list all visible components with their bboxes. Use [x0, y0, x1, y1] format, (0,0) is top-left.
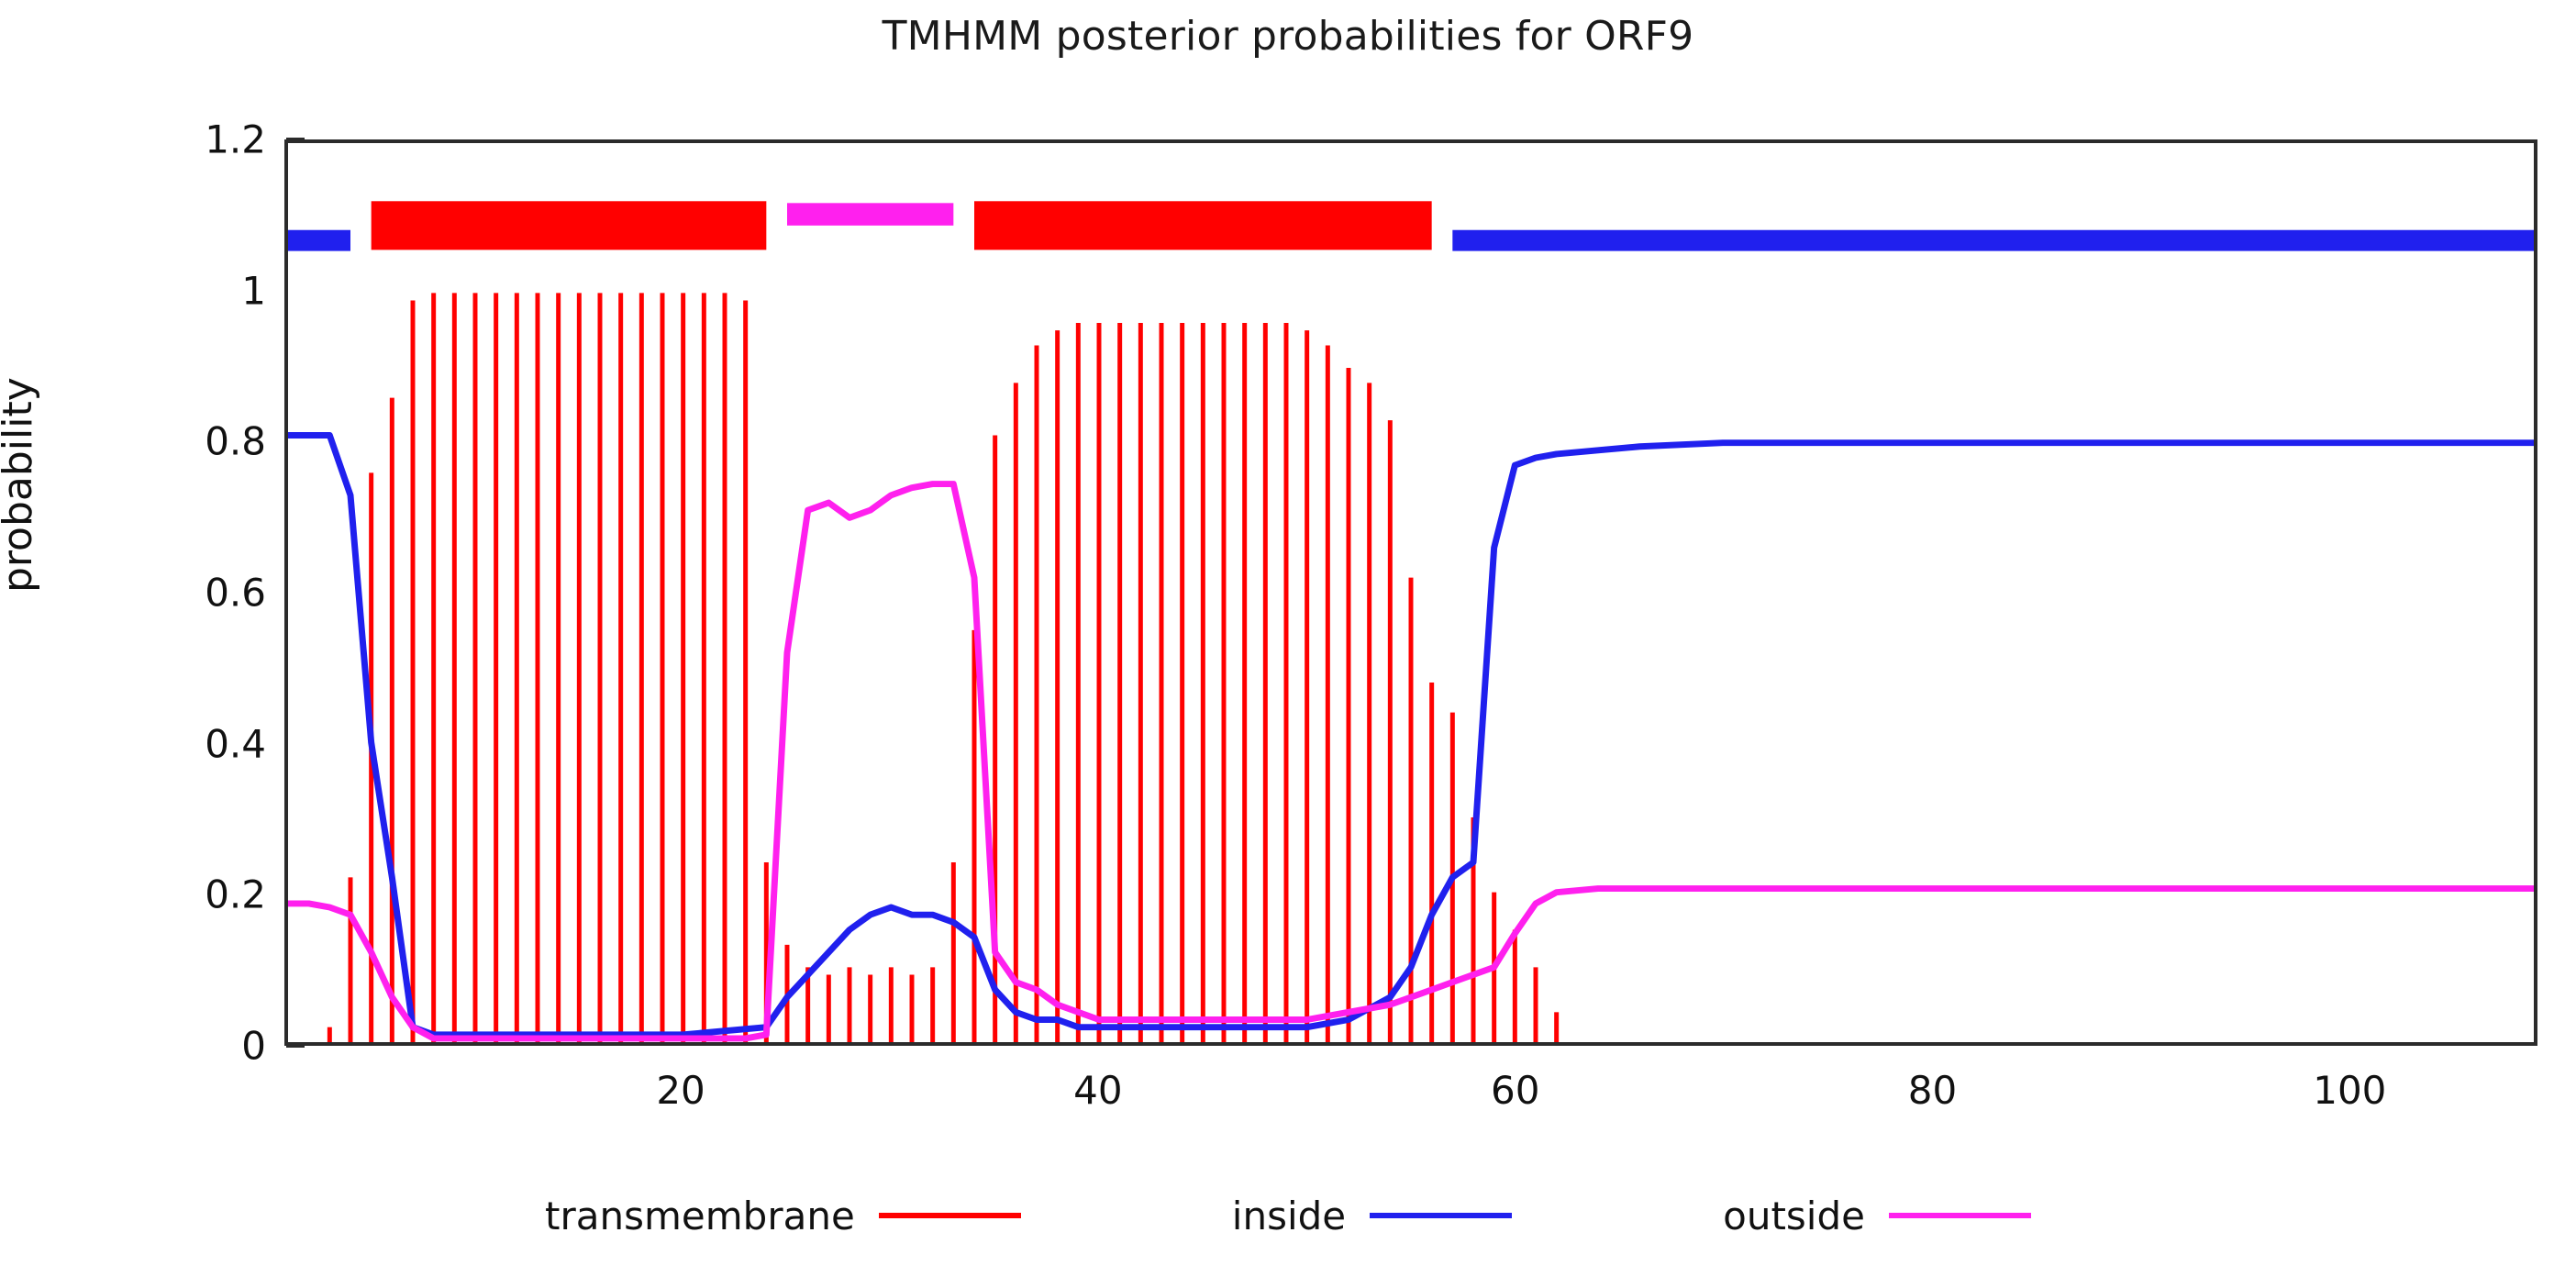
y-tick-label: 0.8	[92, 419, 266, 464]
topology-bar-outside	[787, 203, 953, 226]
legend-color-swatch	[879, 1213, 1021, 1218]
plot-svg	[288, 143, 2534, 1042]
y-tick-label: 0.4	[92, 721, 266, 766]
topology-bar-transmembrane	[372, 201, 767, 250]
x-tick-label: 40	[1025, 1068, 1171, 1113]
plot-area	[288, 143, 2534, 1042]
legend-label: transmembrane	[545, 1194, 855, 1238]
legend-item-inside[interactable]: inside	[1232, 1194, 1512, 1238]
y-tick-label: 1	[92, 268, 266, 313]
y-tick-label: 0.6	[92, 571, 266, 616]
x-tick-label: 100	[2276, 1068, 2423, 1113]
series-transmembrane	[329, 293, 1556, 1042]
legend-label: outside	[1723, 1194, 1865, 1238]
y-axis-label: probability	[0, 377, 41, 593]
x-tick-label: 20	[607, 1068, 754, 1113]
topology-bar-transmembrane	[974, 201, 1432, 250]
plot-frame	[284, 139, 2537, 1046]
y-tick-label: 1.2	[92, 117, 266, 162]
legend-item-outside[interactable]: outside	[1723, 1194, 2031, 1238]
chart-title: TMHMM posterior probabilities for ORF9	[0, 13, 2576, 60]
x-tick-label: 60	[1442, 1068, 1589, 1113]
y-tick-label: 0	[92, 1024, 266, 1069]
legend-color-swatch	[1370, 1213, 1512, 1218]
topology-bar-inside	[288, 230, 350, 251]
chart-legend: transmembraneinsideoutside	[0, 1179, 2576, 1252]
legend-color-swatch	[1889, 1213, 2031, 1218]
topology-bars	[288, 201, 2534, 250]
topology-bar-inside	[1452, 230, 2534, 251]
y-tick-label: 0.2	[92, 872, 266, 917]
legend-label: inside	[1232, 1194, 1346, 1238]
x-tick-label: 80	[1860, 1068, 2006, 1113]
chart-page: TMHMM posterior probabilities for ORF9 p…	[0, 0, 2576, 1288]
legend-item-transmembrane[interactable]: transmembrane	[545, 1194, 1021, 1238]
